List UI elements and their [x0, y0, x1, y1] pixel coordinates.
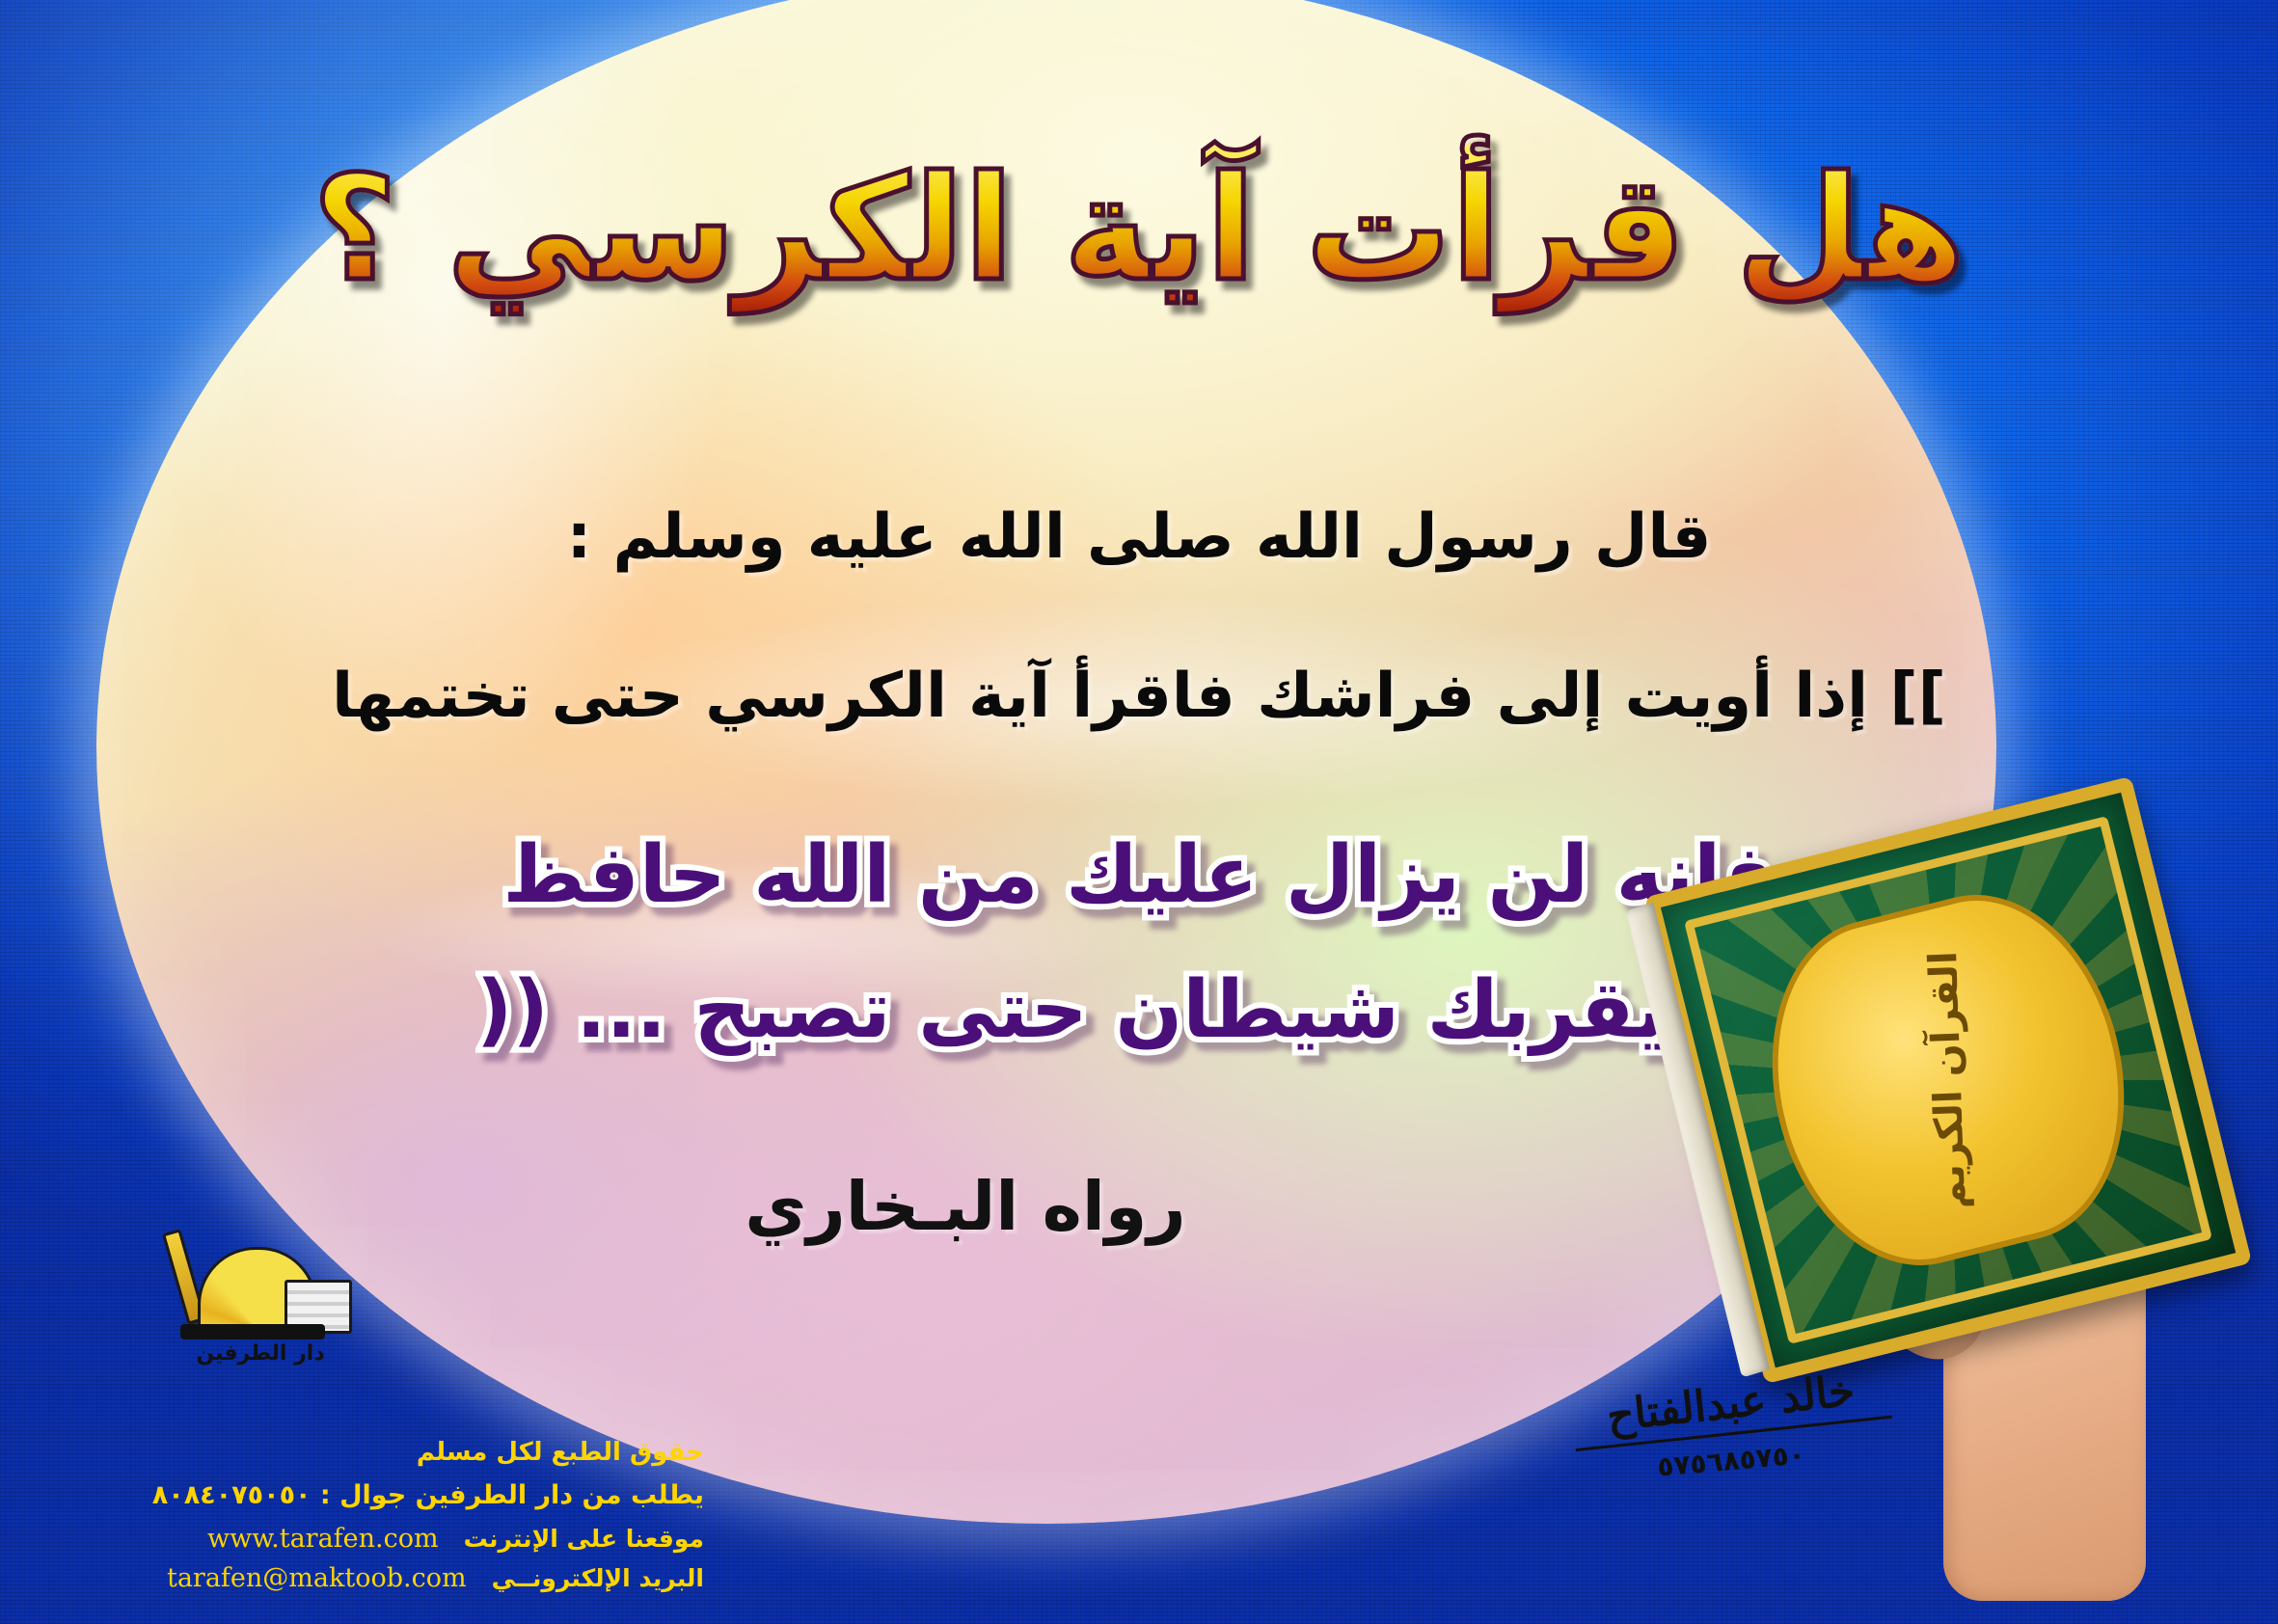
page-title: هل قرأت آية الكرسي ؟: [0, 145, 2278, 315]
email-label: البريد الإلكترونــي: [492, 1564, 704, 1592]
hadith-intro: قال رسول الله صلى الله عليه وسلم :: [0, 501, 2278, 573]
publisher-logo: دار الطرفين: [169, 1230, 352, 1374]
email-value[interactable]: tarafen@maktoob.com: [167, 1563, 467, 1593]
logo-base-bar: [180, 1324, 325, 1340]
website-value[interactable]: www.tarafen.com: [207, 1524, 439, 1554]
website-row: www.tarafen.com موقعنا على الإنترنت: [29, 1524, 704, 1554]
publisher-name: دار الطرفين: [169, 1341, 352, 1366]
copyright-notice: حقوق الطبع لكل مسلم: [29, 1438, 704, 1467]
artist-signature: خالد عبدالفتاح ٠٥٧٥٨٦٥٧٥: [1572, 1379, 1890, 1514]
poster-canvas: هل قرأت آية الكرسي ؟ قال رسول الله صلى ا…: [0, 0, 2278, 1624]
footer-info: حقوق الطبع لكل مسلم يطلب من دار الطرفين …: [29, 1438, 704, 1603]
email-row: tarafen@maktoob.com البريد الإلكترونــي: [29, 1563, 704, 1593]
book-title-text: القرآن الكريم: [1921, 951, 1974, 1210]
website-label: موقعنا على الإنترنت: [464, 1525, 704, 1553]
hadith-line-1: ]] إذا أويت إلى فراشك فاقرأ آية الكرسي ح…: [0, 661, 2278, 732]
order-info: يطلب من دار الطرفين جوال : ٠٥٠٥٧٠٤٨٠٨: [29, 1480, 704, 1510]
poster-content: هل قرأت آية الكرسي ؟ قال رسول الله صلى ا…: [0, 0, 2278, 1624]
